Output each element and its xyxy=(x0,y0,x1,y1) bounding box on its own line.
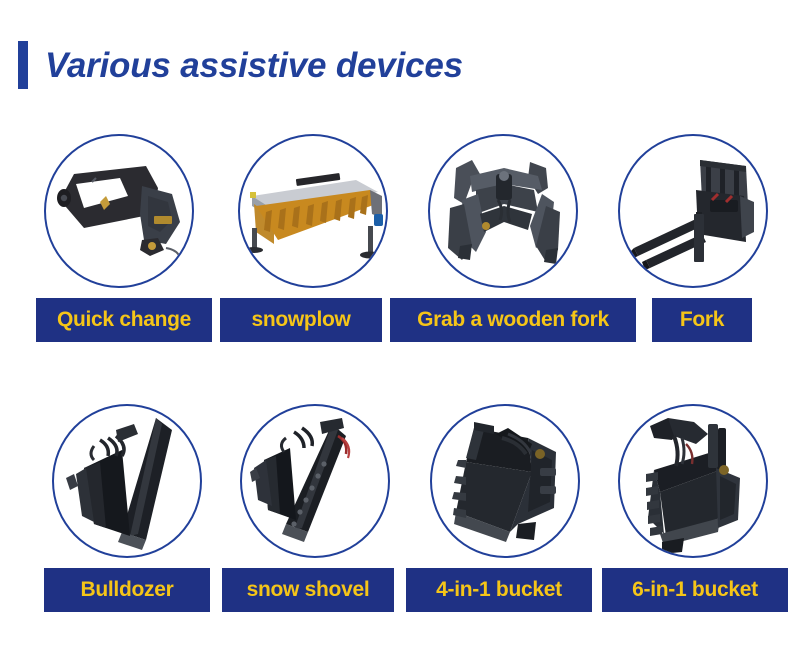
product-label-snowplow[interactable]: snowplow xyxy=(220,298,382,342)
product-label-quick-change[interactable]: Quick change xyxy=(36,298,212,342)
product-label-text: Quick change xyxy=(57,308,191,332)
product-label-text: Bulldozer xyxy=(81,578,174,602)
product-label-snow-shovel[interactable]: snow shovel xyxy=(222,568,394,612)
page-header: Various assistive devices xyxy=(0,34,800,96)
product-label-text: snowplow xyxy=(251,308,350,332)
page-title: Various assistive devices xyxy=(45,48,463,83)
product-image-circle-6in1-bucket xyxy=(618,404,768,558)
product-image-circle-fork xyxy=(618,134,768,288)
product-image-circle-snowplow xyxy=(238,134,388,288)
product-image-circle-snow-shovel xyxy=(240,404,390,558)
four-in-one-bucket-icon xyxy=(432,406,578,556)
product-row-2: Bulldozer xyxy=(0,386,800,654)
product-label-text: Fork xyxy=(680,308,724,332)
header-accent-bar xyxy=(18,41,28,89)
quick-change-coupler-icon xyxy=(46,136,192,286)
product-row-1: Quick change xyxy=(0,118,800,386)
rotary-broom-snowplow-icon xyxy=(240,136,386,286)
product-label-grab-wooden-fork[interactable]: Grab a wooden fork xyxy=(390,298,636,342)
product-image-circle-4in1-bucket xyxy=(430,404,580,558)
dozer-blade-icon xyxy=(54,406,200,556)
six-in-one-bucket-icon xyxy=(620,406,766,556)
snow-blade-icon xyxy=(242,406,388,556)
product-image-circle-quick-change xyxy=(44,134,194,288)
product-label-6in1-bucket[interactable]: 6-in-1 bucket xyxy=(602,568,788,612)
product-grid: Quick change xyxy=(0,118,800,654)
product-image-circle-bulldozer xyxy=(52,404,202,558)
product-catalog-page: Various assistive devices xyxy=(0,0,800,654)
product-label-text: 4-in-1 bucket xyxy=(436,578,562,602)
log-grapple-fork-icon xyxy=(430,136,576,286)
product-label-bulldozer[interactable]: Bulldozer xyxy=(44,568,210,612)
product-label-4in1-bucket[interactable]: 4-in-1 bucket xyxy=(406,568,592,612)
product-label-text: snow shovel xyxy=(247,578,370,602)
product-label-text: Grab a wooden fork xyxy=(417,308,609,332)
pallet-fork-icon xyxy=(620,136,766,286)
product-label-text: 6-in-1 bucket xyxy=(632,578,758,602)
product-label-fork[interactable]: Fork xyxy=(652,298,752,342)
product-image-circle-grab-wooden-fork xyxy=(428,134,578,288)
